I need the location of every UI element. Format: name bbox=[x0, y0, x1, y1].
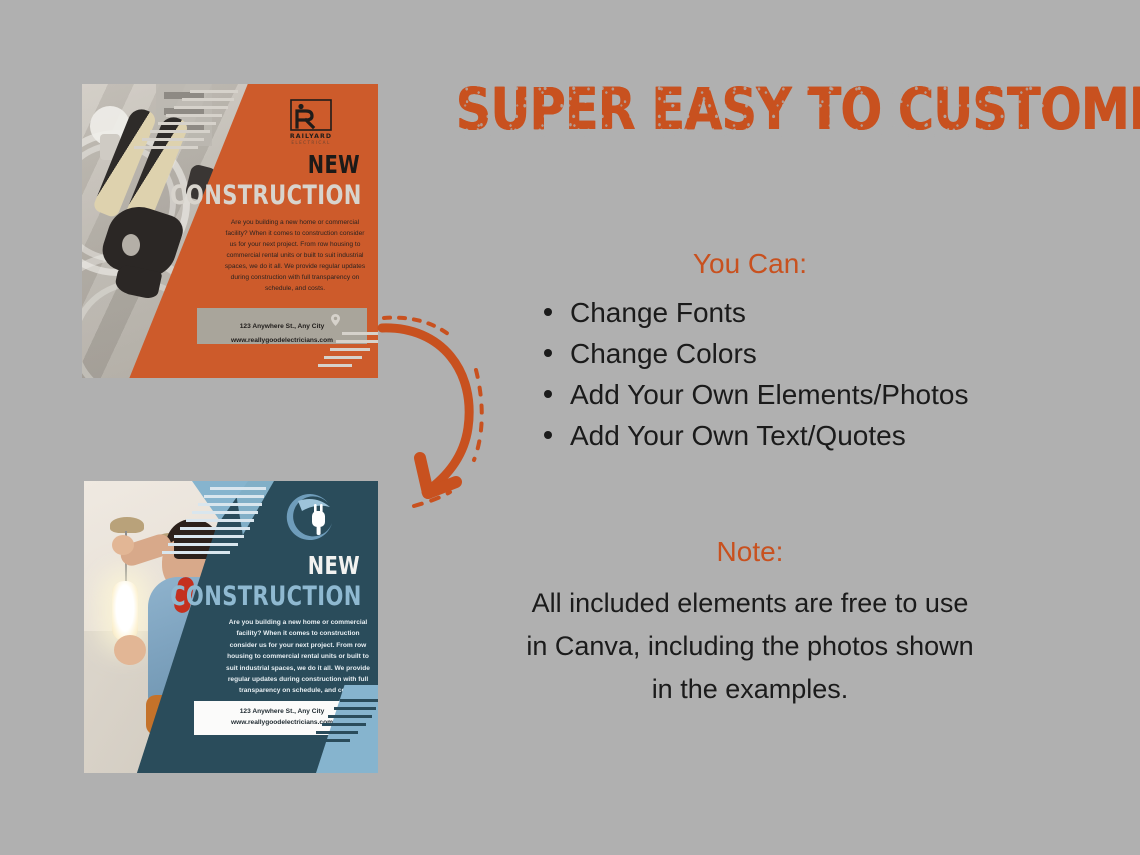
worker-hand-lower bbox=[114, 635, 146, 665]
poster-card-orange[interactable]: RAILYARD ELECTRICAL NEW CONSTRUCTION Are… bbox=[82, 84, 378, 378]
pendant-lamp-glow bbox=[112, 581, 138, 641]
list-item: Change Colors bbox=[544, 333, 968, 374]
bullet-dot bbox=[544, 431, 552, 439]
note-body: All included elements are free to use in… bbox=[450, 582, 1050, 711]
feature-label: Change Fonts bbox=[570, 297, 746, 328]
plier-pivot bbox=[122, 234, 140, 256]
feature-list: Change Fonts Change Colors Add Your Own … bbox=[520, 292, 968, 456]
poster-address-bar: 123 Anywhere St., Any City www.reallygoo… bbox=[197, 308, 367, 344]
location-pin-icon bbox=[331, 313, 340, 325]
bullet-dot bbox=[544, 349, 552, 357]
poster-heading-new: NEW bbox=[308, 551, 360, 580]
ceiling-rose bbox=[110, 517, 144, 533]
note-line: in Canva, including the photos shown bbox=[450, 625, 1050, 668]
note-line: All included elements are free to use bbox=[450, 582, 1050, 625]
you-can-label: You Can: bbox=[400, 248, 1100, 280]
address-line-1: 123 Anywhere St., Any City bbox=[240, 323, 325, 330]
note-label: Note: bbox=[400, 536, 1100, 568]
promo-headline: SUPER EASY TO CUSTOMIZE! bbox=[456, 80, 1044, 138]
railyard-electrical-logo: RAILYARD ELECTRICAL bbox=[282, 98, 340, 146]
list-item: Change Fonts bbox=[544, 292, 968, 333]
feature-label: Change Colors bbox=[570, 338, 757, 369]
bullet-dot bbox=[544, 308, 552, 316]
breaker-switch bbox=[164, 108, 204, 115]
feature-label: Add Your Own Elements/Photos bbox=[570, 379, 968, 410]
worker-hand bbox=[112, 535, 134, 555]
plug-icon bbox=[312, 504, 325, 535]
logo-brand-text: RAILYARD bbox=[290, 133, 332, 140]
bullet-dot bbox=[544, 390, 552, 398]
promo-copy-column: SUPER EASY TO CUSTOMIZE! You Can: Change… bbox=[400, 0, 1140, 855]
electric-plug-circle-logo bbox=[282, 489, 340, 547]
note-line: in the examples. bbox=[450, 668, 1050, 711]
list-item: Add Your Own Text/Quotes bbox=[544, 415, 968, 456]
poster-heading-construction: CONSTRUCTION bbox=[170, 581, 362, 612]
poster-body-copy: Are you building a new home or commercia… bbox=[222, 217, 368, 294]
poster-body-copy: Are you building a new home or commercia… bbox=[224, 617, 372, 697]
logo-tagline-text: ELECTRICAL bbox=[291, 140, 330, 145]
list-item: Add Your Own Elements/Photos bbox=[544, 374, 968, 415]
address-line-2: www.reallygoodelectricians.com bbox=[197, 337, 367, 344]
poster-card-teal[interactable]: NEW CONSTRUCTION Are you building a new … bbox=[84, 481, 378, 773]
breaker-switch bbox=[164, 92, 204, 99]
feature-label: Add Your Own Text/Quotes bbox=[570, 420, 906, 451]
poster-heading-new: NEW bbox=[308, 150, 360, 179]
poster-heading-construction: CONSTRUCTION bbox=[170, 180, 362, 211]
